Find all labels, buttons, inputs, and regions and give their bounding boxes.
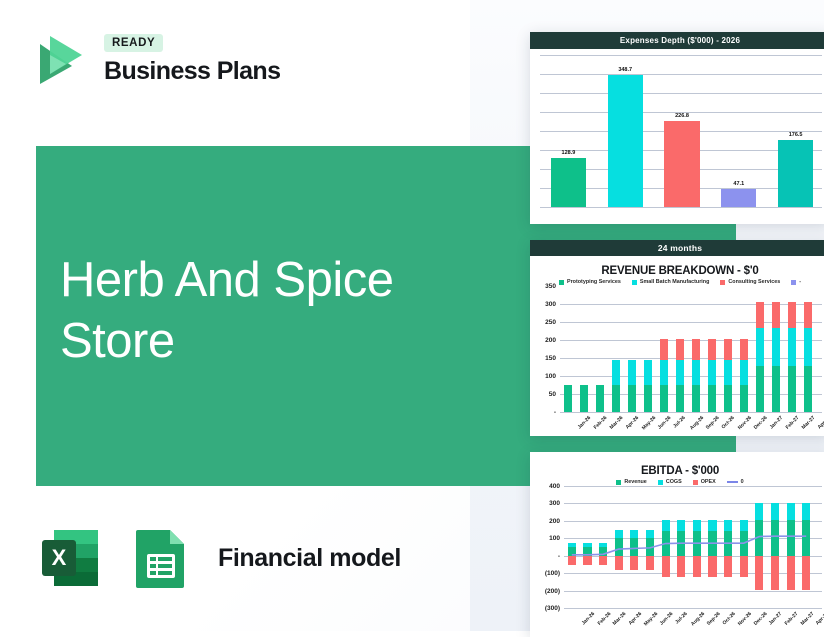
financial-model-row: X Financial model [32,520,401,596]
bar [608,75,643,208]
chart-card-revenue-breakdown[interactable]: 24 months REVENUE BREAKDOWN - $'0 Protot… [530,240,824,436]
legend-item: COGS [658,479,682,485]
x-axis-tick: Jan-27 [769,415,784,430]
legend-item: Revenue [616,479,646,485]
x-axis-tick: Sep-26 [706,611,722,627]
legend-label: 0 [741,479,744,485]
slide-canvas: READY Business Plans Herb And Spice Stor… [0,0,824,631]
bar-segment [788,302,797,328]
x-axis-tick: Feb-27 [784,611,800,627]
bar-segment [660,339,669,360]
bar-segment [724,360,733,385]
x-axis-tick: Jan-26 [581,611,596,626]
financial-model-label: Financial model [218,544,401,573]
x-axis-tick: Apr-27 [817,415,824,430]
x-axis-tick: Jul-26 [673,415,687,429]
page-title: Herb And Spice Store [60,250,490,372]
gridline [560,412,822,413]
y-axis-tick: (200) [536,588,560,595]
legend-item: Consulting Services [720,279,780,285]
x-axis-tick: Mar-27 [799,611,815,627]
x-axis-tick: Dec-26 [753,611,769,627]
x-axis-tick: Mar-27 [801,415,817,431]
bar-value-label: 348.7 [597,67,654,73]
brand-text: READY Business Plans [104,34,280,84]
gridline [540,55,822,56]
legend-item: Prototyping Services [559,279,621,285]
bar-segment [612,360,621,385]
bar-segment [740,339,749,360]
legend-item: 0 [727,479,744,485]
bar-segment [692,385,701,412]
y-axis-tick: 200 [536,518,560,525]
bar-segment [676,339,685,360]
bar-segment [724,339,733,360]
y-axis-tick: 200 [536,337,556,344]
x-axis-tick: Oct-26 [721,415,736,430]
legend-label: Consulting Services [728,279,780,285]
bar-segment [756,366,765,412]
bar-segment [740,385,749,412]
y-axis-tick: 100 [536,535,560,542]
zero-trend-line [564,486,814,608]
y-axis-tick: 50 [536,391,556,398]
bar-segment [772,328,781,366]
x-axis-tick: May-26 [641,415,657,431]
x-axis-tick: Nov-26 [737,611,753,627]
x-axis-tick: Mar-26 [609,415,625,431]
x-axis-tick: Oct-26 [721,611,736,626]
x-axis-tick: May-26 [643,611,659,627]
expenses-chart-title: Expenses Depth ($'000) - 2026 [530,32,824,49]
bar [721,189,756,207]
bar-segment [644,360,653,385]
legend-label: Prototyping Services [567,279,621,285]
bar-segment [804,302,813,328]
revenue-period-header: 24 months [530,240,824,256]
revenue-chart-title: REVENUE BREAKDOWN - $'0 [538,265,822,277]
legend-swatch [632,280,637,285]
chart-card-expenses-depth[interactable]: Expenses Depth ($'000) - 2026 128.9348.7… [530,32,824,224]
legend-swatch [693,480,698,485]
bar-segment [804,328,813,366]
bar-segment [772,366,781,412]
bar-value-label: 47.1 [710,181,767,187]
ebitda-chart-title: EBITDA - $'000 [538,465,822,477]
ready-badge: READY [104,34,163,52]
y-axis-tick: (100) [536,570,560,577]
ebitda-plot: 400300200100-(100)(200)(300)Jan-26Feb-26… [564,486,822,608]
bar-segment [756,302,765,328]
x-axis-tick: Jan-27 [768,611,783,626]
gridline [540,207,822,208]
legend-label: OPEX [701,479,716,485]
gridline [560,322,822,323]
x-axis-tick: Feb-26 [596,611,612,627]
x-axis-tick: Jan-26 [577,415,592,430]
bar-segment [708,360,717,385]
legend-swatch [720,280,725,285]
double-play-triangle-logo-icon [28,28,90,90]
y-axis-tick: 400 [536,483,560,490]
bar-segment [756,328,765,366]
chart-card-ebitda[interactable]: EBITDA - $'000 RevenueCOGSOPEX0 40030020… [530,452,824,637]
bar-segment [660,385,669,412]
legend-item: - [791,279,801,285]
svg-text:X: X [52,545,67,570]
x-axis-tick: Aug-26 [689,415,705,431]
bar-segment [660,360,669,385]
bar [778,140,813,207]
legend-item: OPEX [693,479,716,485]
x-axis-tick: Sep-26 [705,415,721,431]
x-axis-tick: Dec-26 [753,415,769,431]
bar-segment [788,328,797,366]
x-axis-tick: Feb-27 [785,415,801,431]
x-axis-tick: Apr-26 [627,611,642,626]
bar-segment [772,302,781,328]
x-axis-tick: Jul-26 [674,611,688,625]
expenses-plot: 128.9348.7226.847.1176.5 [540,55,822,207]
bar-segment [724,385,733,412]
brand-logo: READY Business Plans [28,28,280,90]
legend-swatch [616,480,621,485]
bar-segment [676,360,685,385]
y-axis-tick: 150 [536,355,556,362]
x-axis-tick: Feb-26 [593,415,609,431]
y-axis-tick: (300) [536,605,560,612]
bar-segment [740,360,749,385]
legend-line-swatch [727,481,738,483]
bar-segment [788,366,797,412]
bar-segment [804,366,813,412]
legend-swatch [791,280,796,285]
legend-label: COGS [666,479,682,485]
gridline [560,304,822,305]
revenue-legend: Prototyping ServicesSmall Batch Manufact… [538,279,822,285]
revenue-chart-body: REVENUE BREAKDOWN - $'0 Prototyping Serv… [530,256,824,416]
bar-segment [692,360,701,385]
bar [551,158,586,207]
bar-segment [676,385,685,412]
y-axis-tick: 250 [536,319,556,326]
legend-swatch [658,480,663,485]
gridline [564,608,822,609]
bar-segment [644,385,653,412]
x-axis-tick: Aug-26 [690,611,706,627]
y-axis-tick: 300 [536,301,556,308]
y-axis-tick: - [536,553,560,560]
bar-segment [708,385,717,412]
ebitda-chart-body: EBITDA - $'000 RevenueCOGSOPEX0 40030020… [530,452,824,612]
x-axis-tick: Jun-26 [659,611,675,627]
bar-segment [612,385,621,412]
bar-segment [708,339,717,360]
legend-swatch [559,280,564,285]
revenue-plot: 35030025020015010050-Jan-26Feb-26Mar-26A… [560,286,822,412]
legend-label: Revenue [624,479,646,485]
x-axis-tick: Jun-26 [657,415,673,431]
ebitda-legend: RevenueCOGSOPEX0 [538,479,822,485]
y-axis-tick: - [536,409,556,416]
brand-name: Business Plans [104,58,280,84]
bar-segment [596,385,605,412]
legend-label: Small Batch Manufacturing [640,279,710,285]
x-axis-tick: Nov-26 [737,415,753,431]
bar [664,121,699,207]
microsoft-excel-icon: X [32,520,108,596]
x-axis-tick: Mar-26 [612,611,628,627]
y-axis-tick: 350 [536,283,556,290]
bar-value-label: 176.5 [767,132,824,138]
bar-segment [580,385,589,412]
bar-segment [628,360,637,385]
legend-label: - [799,279,801,285]
gridline [540,93,822,94]
x-axis-tick: Apr-27 [815,611,824,626]
google-sheets-icon [122,520,198,596]
gridline [540,74,822,75]
bar-segment [628,385,637,412]
expenses-chart-body: 128.9348.7226.847.1176.5 [530,49,824,211]
x-axis-tick: Apr-26 [625,415,640,430]
y-axis-tick: 100 [536,373,556,380]
bar-segment [564,385,573,412]
bar-segment [692,339,701,360]
legend-item: Small Batch Manufacturing [632,279,710,285]
y-axis-tick: 300 [536,500,560,507]
bar-value-label: 226.8 [654,113,711,119]
bar-value-label: 128.9 [540,150,597,156]
